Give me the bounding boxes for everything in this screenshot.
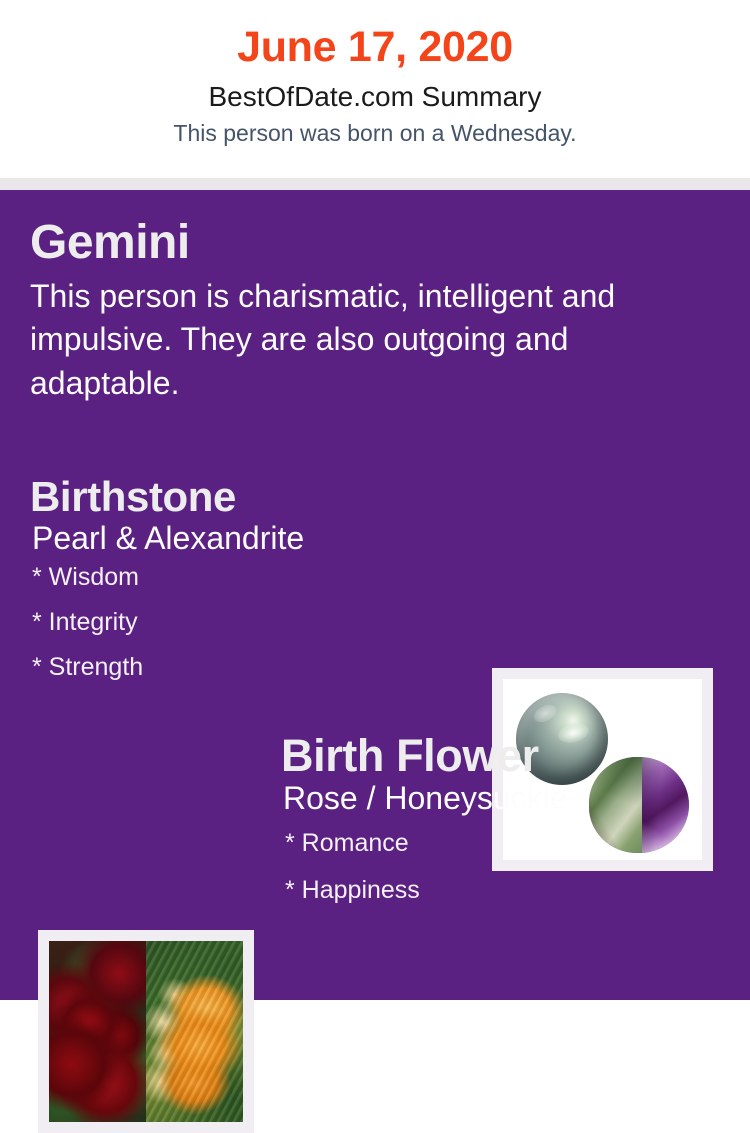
birth-flower-heading: Birth Flower (281, 732, 741, 779)
birthstone-trait-list: * Wisdom * Integrity * Strength (30, 565, 480, 680)
zodiac-sign-name: Gemini (30, 218, 720, 269)
birth-flower-image (49, 941, 243, 1122)
list-item: * Romance (285, 831, 741, 856)
site-summary-label: BestOfDate.com Summary (0, 79, 750, 115)
zodiac-description: This person is charismatic, intelligent … (30, 275, 702, 406)
birth-flower-section: Birth Flower Rose / Honeysuckle * Romanc… (281, 732, 741, 925)
card-header: June 17, 2020 BestOfDate.com Summary Thi… (0, 0, 750, 178)
list-item: * Integrity (32, 610, 480, 635)
birth-flower-trait-list: * Romance * Happiness (281, 831, 741, 903)
birthstone-names: Pearl & Alexandrite (32, 521, 480, 557)
rose-photo-half (49, 941, 146, 1122)
birth-flower-image-frame (38, 930, 254, 1133)
page-title: June 17, 2020 (0, 22, 750, 73)
header-divider (0, 178, 750, 190)
details-panel: Gemini This person is charismatic, intel… (0, 190, 750, 1000)
born-weekday-text: This person was born on a Wednesday. (0, 119, 750, 149)
list-item: * Wisdom (32, 565, 480, 590)
date-summary-card: June 17, 2020 BestOfDate.com Summary Thi… (0, 0, 750, 1000)
honeysuckle-photo-half (146, 941, 243, 1122)
zodiac-section: Gemini This person is charismatic, intel… (30, 218, 720, 405)
birthstone-heading: Birthstone (30, 475, 480, 519)
birth-flower-names: Rose / Honeysuckle (283, 781, 741, 817)
list-item: * Happiness (285, 878, 741, 903)
list-item: * Strength (32, 655, 480, 680)
birthstone-section: Birthstone Pearl & Alexandrite * Wisdom … (30, 475, 480, 700)
